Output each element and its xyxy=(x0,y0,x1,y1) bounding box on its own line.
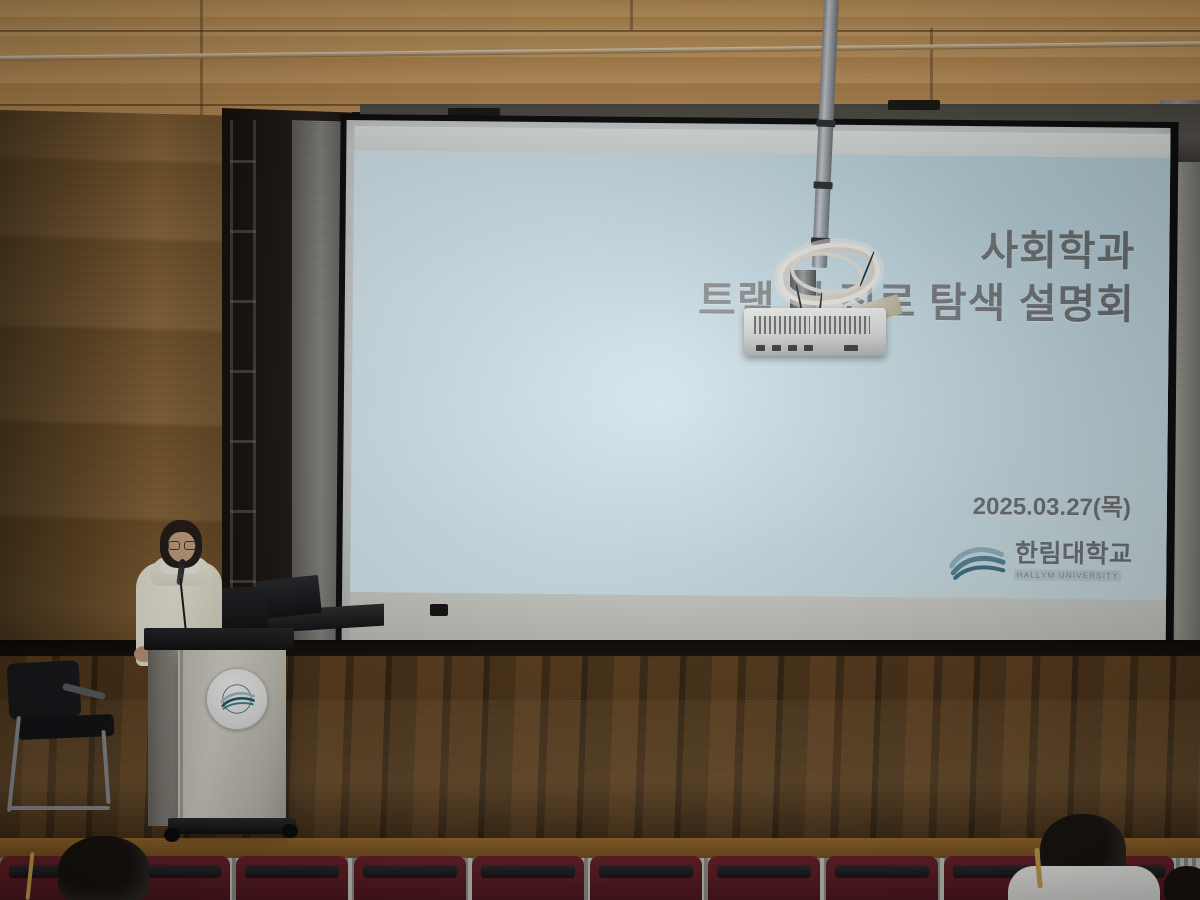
presentation-slide: 사회학과 트랙 및 진로 탐색 설명회 2025.03.27(목) 한림대학교 xyxy=(350,150,1170,600)
screen-surface: 사회학과 트랙 및 진로 탐색 설명회 2025.03.27(목) 한림대학교 xyxy=(341,120,1170,662)
logo-korean-text: 한림대학교 xyxy=(1015,541,1133,567)
wave-logo-icon xyxy=(950,540,1006,581)
podium-top-surface xyxy=(144,628,294,650)
hallym-university-logo: 한림대학교 HALLYM UNIVERSITY xyxy=(950,540,1133,582)
auditorium-seat xyxy=(236,856,348,900)
slide-title-line1: 사회학과 xyxy=(698,221,1135,278)
ceiling-wood-paneling xyxy=(0,0,1200,118)
auditorium-seat xyxy=(590,856,702,900)
auditorium-seat xyxy=(354,856,466,900)
chair-foot-rail xyxy=(10,806,110,810)
slide-light-falloff xyxy=(350,150,1170,600)
black-chair-seat xyxy=(18,714,115,740)
logo-wordmark: 한림대학교 HALLYM UNIVERSITY xyxy=(1015,541,1133,581)
podium-caster xyxy=(282,824,298,838)
podium-left-side xyxy=(148,640,182,826)
auditorium-seat xyxy=(826,856,938,900)
backstage-ladder xyxy=(230,120,256,650)
auditorium-seat xyxy=(708,856,820,900)
ceiling-fixture xyxy=(888,100,940,110)
projection-screen: 사회학과 트랙 및 진로 탐색 설명회 2025.03.27(목) 한림대학교 xyxy=(335,114,1178,670)
audience-white-jacket xyxy=(1008,866,1160,900)
podium-base xyxy=(168,818,296,834)
photograph-scene: 사회학과 트랙 및 진로 탐색 설명회 2025.03.27(목) 한림대학교 xyxy=(0,0,1200,900)
auditorium-seat xyxy=(472,856,584,900)
shelf-equipment-box xyxy=(430,604,448,616)
eyeglasses-icon xyxy=(168,541,195,548)
audience-head xyxy=(58,836,150,900)
ceiling-projector xyxy=(744,308,886,356)
podium-university-emblem xyxy=(206,668,268,730)
logo-english-text: HALLYM UNIVERSITY xyxy=(1015,569,1121,581)
slide-date: 2025.03.27(목) xyxy=(973,486,1132,523)
podium-caster xyxy=(164,828,180,842)
audience-head xyxy=(1164,866,1200,900)
